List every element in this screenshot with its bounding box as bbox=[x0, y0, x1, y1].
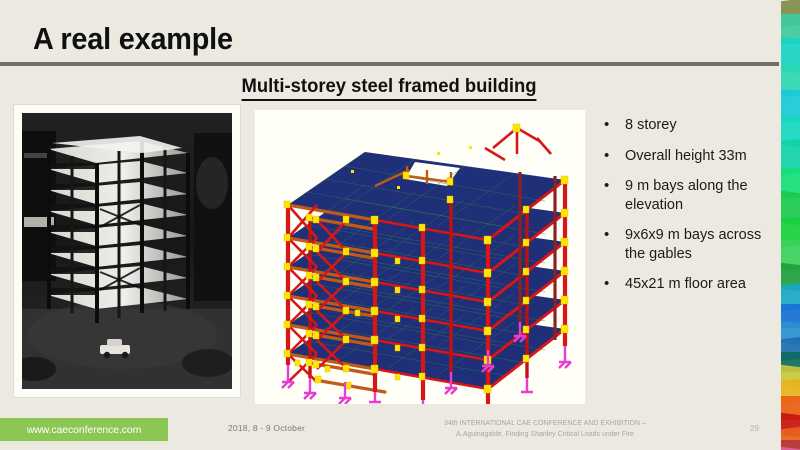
footer-date: 2018, 8 - 9 October bbox=[228, 423, 305, 433]
list-item: • 45x21 m floor area bbox=[600, 275, 772, 294]
list-item: • 9 m bays along the elevation bbox=[600, 177, 772, 214]
list-item-label: 8 storey bbox=[625, 117, 677, 133]
list-item: • 8 storey bbox=[600, 116, 772, 135]
footer-conference-line-1: 34th INTERNATIONAL CAE CONFERENCE AND EX… bbox=[400, 419, 690, 430]
page-title: A real example bbox=[33, 21, 233, 57]
fea-model-panel bbox=[255, 110, 585, 404]
list-item-label: Overall height 33m bbox=[625, 148, 747, 164]
list-item: • 9x6x9 m bays across the gables bbox=[600, 226, 772, 263]
list-item: • Overall height 33m bbox=[600, 147, 772, 166]
bullet-marker-icon: • bbox=[604, 146, 609, 165]
list-item-label: 9 m bays along the elevation bbox=[625, 178, 748, 213]
list-item-label: 9x6x9 m bays across the gables bbox=[625, 227, 761, 262]
fea-model-graphic bbox=[255, 110, 585, 404]
title-divider bbox=[0, 62, 779, 66]
presentation-slide: A real example Multi-storey steel framed… bbox=[0, 0, 800, 450]
slide-subtitle-text: Multi-storey steel framed building bbox=[242, 76, 537, 101]
photo-frame bbox=[14, 105, 240, 397]
decorative-color-mosaic-strip bbox=[781, 0, 800, 450]
feature-bullet-list: • 8 storey • Overall height 33m • 9 m ba… bbox=[600, 116, 772, 306]
bullet-marker-icon: • bbox=[604, 274, 609, 293]
list-item-label: 45x21 m floor area bbox=[625, 276, 746, 292]
footer-conference-line-2: A.Aguinagalde, Finding Shanley Critical … bbox=[400, 430, 690, 441]
construction-photo-graphic bbox=[22, 113, 232, 389]
footer-website-link[interactable]: www.caeconference.com bbox=[0, 418, 168, 441]
slide-subtitle: Multi-storey steel framed building bbox=[0, 76, 779, 101]
bullet-marker-icon: • bbox=[604, 115, 609, 134]
bullet-marker-icon: • bbox=[604, 176, 609, 195]
footer-conference-credit: 34th INTERNATIONAL CAE CONFERENCE AND EX… bbox=[400, 419, 690, 441]
bullet-marker-icon: • bbox=[604, 225, 609, 244]
slide-page-number: 29 bbox=[750, 424, 759, 433]
construction-photo bbox=[22, 113, 232, 389]
